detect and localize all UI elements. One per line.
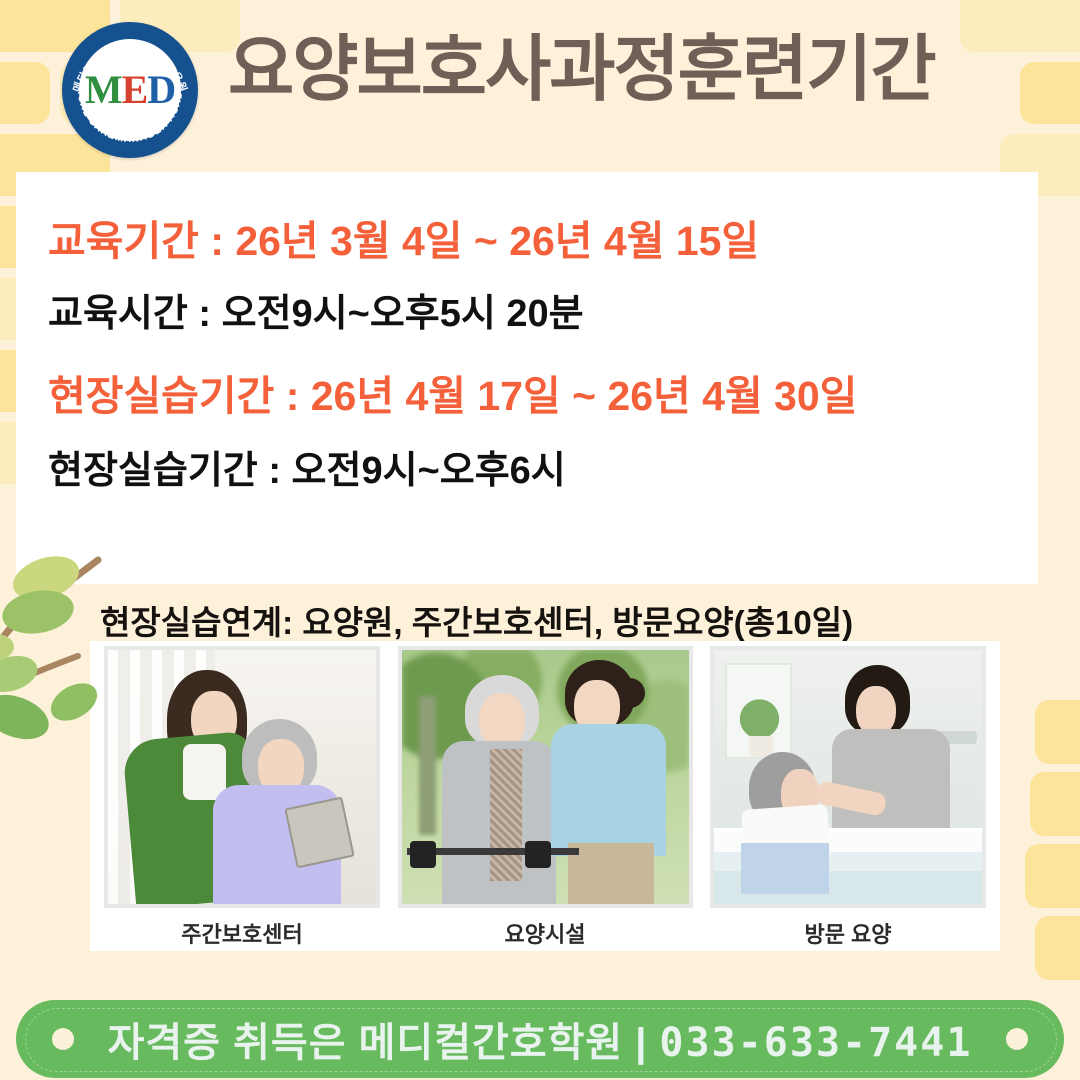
schedule-line-practicum-hours: 현장실습기간 : 오전9시~오후6시	[48, 450, 1038, 494]
photo-caption-home-care: 방문 요양	[710, 917, 986, 949]
logo-letter-e: E	[122, 67, 148, 112]
schedule-line-education-hours: 교육시간 : 오전9시~오후5시 20분	[48, 293, 1038, 337]
schedule-line-education-period: 교육기간 : 26년 3월 4일 ~ 26년 4월 15일	[48, 218, 1038, 265]
footer-lead-text: 자격증 취득은 메디컬간호학원	[108, 1021, 624, 1065]
photo-image-home-care	[710, 646, 986, 908]
poster-header: 메디컬 부설 요양보호사교육원 MEDICAL CAREMANAGER ACAD…	[0, 0, 1080, 170]
page-title: 요양보호사과정훈련기간	[228, 34, 935, 106]
logo-wordmark: MED	[85, 70, 175, 110]
photo-image-day-care	[104, 646, 380, 908]
photo-caption-day-care: 주간보호센터	[104, 917, 380, 949]
photo-card-nursing-facility: 요양시설	[398, 646, 693, 949]
banner-punch-hole-left	[52, 1028, 74, 1050]
logo-inner-disc: MED	[79, 39, 181, 141]
photo-card-home-care: 방문 요양	[710, 646, 986, 949]
academy-logo: 메디컬 부설 요양보호사교육원 MEDICAL CAREMANAGER ACAD…	[62, 22, 198, 158]
photo-card-day-care: 주간보호센터	[104, 646, 380, 949]
photo-gallery: 주간보호센터 요양시설 방문 요양	[90, 646, 1000, 951]
footer-phone-number[interactable]: 033-633-7441	[659, 1020, 972, 1066]
logo-letter-m: M	[85, 67, 122, 112]
schedule-line-practicum-period: 현장실습기간 : 26년 4월 17일 ~ 26년 4월 30일	[48, 373, 1038, 420]
photo-image-nursing-facility	[398, 646, 693, 908]
footer-separator: |	[635, 1021, 647, 1065]
practicum-linkage-caption: 현장실습연계: 요양원, 주간보호센터, 방문요양(총10일)	[100, 596, 853, 644]
footer-contact-banner[interactable]: 자격증 취득은 메디컬간호학원|033-633-7441	[16, 1000, 1064, 1078]
photo-caption-nursing-facility: 요양시설	[398, 917, 693, 949]
footer-text-group: 자격증 취득은 메디컬간호학원|033-633-7441	[108, 1010, 973, 1068]
logo-letter-d: D	[147, 67, 175, 112]
banner-punch-hole-right	[1006, 1028, 1028, 1050]
schedule-list: 교육기간 : 26년 3월 4일 ~ 26년 4월 15일 교육시간 : 오전9…	[16, 172, 1038, 584]
